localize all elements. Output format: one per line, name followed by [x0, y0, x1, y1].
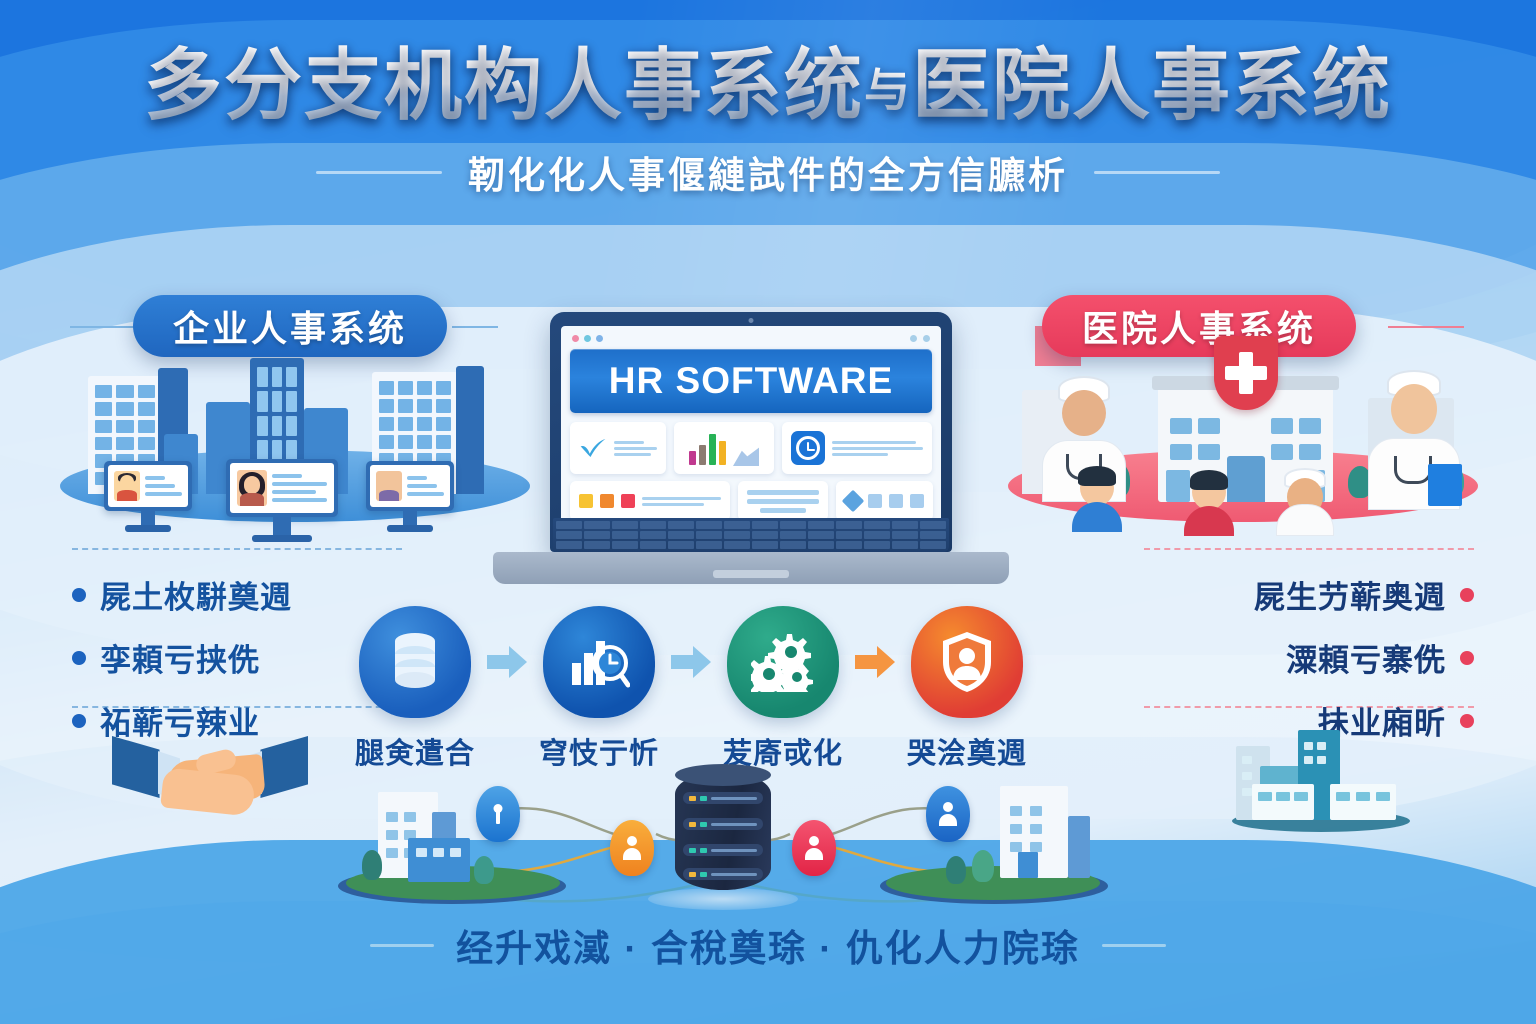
bullet-dot-icon [1460, 714, 1474, 728]
clipboard-icon [1428, 464, 1462, 506]
enterprise-illustration [60, 365, 530, 550]
badge-hospital-hr[interactable]: 医院人事系统 [1042, 295, 1356, 357]
pin-user-red[interactable] [792, 820, 836, 876]
user-glyph [623, 836, 641, 860]
card-text-lines [407, 476, 444, 496]
monitor-base [252, 535, 312, 542]
patient-child-1 [1072, 470, 1122, 532]
divider-left-top [72, 548, 402, 550]
badge-left-rule-inner [452, 326, 498, 328]
list-item[interactable]: 潥頼亏寨侁 [1144, 635, 1474, 680]
list-item-label: 孪頼亏挟侁 [100, 635, 260, 680]
central-server-icon [675, 772, 771, 890]
tagline-rule-right [1102, 944, 1166, 947]
node-square-3 [910, 494, 924, 508]
flow-step-2[interactable]: 穹忮亍忻 [529, 606, 669, 772]
browser-chrome [570, 333, 932, 349]
flow-arrow-3 [853, 646, 897, 678]
title-tail: 医院人事系统 [912, 41, 1392, 129]
site-building-right-1 [1000, 786, 1068, 878]
gears-icon [751, 632, 815, 692]
monitor-base [387, 525, 433, 532]
clock-face [796, 436, 820, 460]
hr-title-strong: HR [609, 360, 664, 401]
process-flow: 腿㑒遣合 穹忮亍忻 [345, 606, 1145, 756]
badge-enterprise-hr[interactable]: 企业人事系统 [133, 295, 447, 357]
tree-icon [474, 856, 494, 884]
front-wing-left [1252, 784, 1314, 820]
hospital-complex-icon [1226, 722, 1416, 834]
monitor-neck [403, 511, 417, 525]
flow-arrow-2 [669, 646, 713, 678]
bullet-dot-icon [1460, 651, 1474, 665]
server-top [675, 764, 771, 786]
chrome-dot-1[interactable] [910, 335, 917, 342]
bar-chart-icon [689, 431, 726, 465]
status-swatch-orange [600, 494, 614, 508]
card-text-lines [272, 474, 327, 502]
title-main: 多分支机构人事系统 [144, 41, 864, 129]
tasks-lines [614, 441, 657, 456]
network-diagram [332, 762, 1114, 914]
footer-tagline-row: 经升戏㵄 · 合稅奠㻌 · 仇化人力院㻌 [0, 918, 1536, 972]
subtitle-rule-left [316, 171, 442, 174]
employee-monitor-3 [366, 461, 454, 532]
header: 多分支机构人事系统与医院人事系统 靭化化人事偃縺試件的全方信臕析 [0, 42, 1536, 199]
monitor-screen [226, 459, 338, 517]
flow-step-4[interactable]: 哭浍奠週 [897, 606, 1037, 772]
flow-step-3[interactable]: 苃㢊戓化 [713, 606, 853, 772]
status-swatch-red [621, 494, 635, 508]
node-diamond-icon [842, 490, 865, 513]
monitor-base [125, 525, 171, 532]
node-square-1 [868, 494, 882, 508]
avatar [237, 470, 267, 506]
tree-icon [972, 850, 994, 882]
medical-cross-icon [1214, 336, 1278, 410]
hr-title-rest: SOFTWARE [676, 360, 894, 401]
laptop-keyboard [553, 518, 949, 552]
doctor-female [1368, 370, 1460, 510]
time-card[interactable] [782, 422, 932, 474]
avatar [376, 471, 402, 501]
pin-key-left[interactable] [476, 786, 520, 842]
window-dot-maximize[interactable] [596, 335, 603, 342]
avatar [114, 471, 140, 501]
subtitle-row: 靭化化人事偃縺試件的全方信臕析 [0, 145, 1536, 199]
hospital-illustration [1008, 365, 1478, 550]
bullet-dot-icon [72, 588, 86, 602]
page-title: 多分支机构人事系统与医院人事系统 [0, 42, 1536, 129]
tree-icon [362, 850, 382, 880]
subtitle-rule-right [1094, 171, 1220, 174]
shield-person-icon [939, 630, 995, 694]
bullet-dot-icon [1460, 588, 1474, 602]
database-icon [387, 631, 443, 693]
bullet-dot-icon [72, 651, 86, 665]
monitor-neck [273, 517, 291, 535]
staff-glyph [939, 802, 957, 826]
chrome-right-controls [910, 335, 930, 342]
status-card[interactable] [570, 481, 730, 521]
hr-software-header: HR SOFTWARE [570, 349, 932, 413]
list-card[interactable] [738, 481, 828, 521]
badge-right-rule-outer [1388, 326, 1464, 328]
laptop-mockup: HR SOFTWARE [493, 312, 1009, 602]
flow-step-1-circle [359, 606, 471, 718]
monitor-neck [141, 511, 155, 525]
tree-icon [946, 856, 966, 884]
bullet-dot-icon [72, 714, 86, 728]
list-item-label: 潥頼亏寨侁 [1286, 635, 1446, 680]
status-lines [642, 497, 721, 506]
laptop-trackpad [713, 570, 789, 578]
hr-software-title: HR SOFTWARE [609, 360, 893, 402]
monitor-screen [366, 461, 454, 511]
pin-staff-right[interactable] [926, 786, 970, 842]
footer-tagline: 经升戏㵄 · 合稅奠㻌 · 仇化人力院㻌 [456, 918, 1080, 972]
checkmark-icon [579, 437, 607, 459]
employee-card [108, 465, 188, 507]
dashboard-cards-row-1 [570, 422, 932, 474]
time-lines [832, 441, 923, 456]
list-item-label: 屍土枚駢奠週 [100, 572, 292, 617]
flow-step-2-circle [543, 606, 655, 718]
laptop-lid: HR SOFTWARE [550, 312, 952, 552]
dashboard-cards-row-2 [570, 481, 932, 521]
list-item-label: 屍生芀蕲奥週 [1254, 572, 1446, 617]
infographic-canvas: 多分支机构人事系统与医院人事系统 靭化化人事偃縺試件的全方信臕析 企业人事系统 … [0, 0, 1536, 1024]
laptop-base [493, 552, 1009, 584]
employee-monitor-2 [226, 459, 338, 542]
clock-icon [791, 431, 825, 465]
list-item[interactable]: 屍生芀蕲奥週 [1144, 572, 1474, 617]
page-subtitle: 靭化化人事偃縺試件的全方信臕析 [468, 145, 1068, 199]
chart-card[interactable] [674, 422, 774, 474]
key-glyph [489, 802, 507, 826]
webcam-icon [749, 318, 754, 323]
divider-right-top [1144, 548, 1474, 550]
flow-step-1[interactable]: 腿㑒遣合 [345, 606, 485, 772]
office-building-8 [456, 366, 484, 494]
workflow-card[interactable] [836, 481, 933, 521]
node-square-2 [889, 494, 903, 508]
server-glow [648, 888, 798, 910]
status-swatch-yellow [579, 494, 593, 508]
flow-step-4-circle [911, 606, 1023, 718]
site-building-left-3 [408, 838, 470, 882]
patient-child-2 [1184, 474, 1234, 536]
analytics-icon [568, 633, 630, 691]
front-wing-right [1330, 784, 1396, 820]
monitor-screen [104, 461, 192, 511]
employee-card [370, 465, 450, 507]
employee-card [230, 463, 334, 513]
site-building-right-2 [1068, 816, 1090, 878]
laptop-screen: HR SOFTWARE [561, 326, 941, 543]
area-chart-icon [733, 446, 759, 466]
window-dot-close[interactable] [572, 335, 579, 342]
patient-adult [1276, 470, 1334, 536]
user-glyph [805, 836, 823, 860]
window-dot-minimize[interactable] [584, 335, 591, 342]
flow-arrow-1 [485, 646, 529, 678]
chrome-dot-2[interactable] [923, 335, 930, 342]
card-text-lines [145, 476, 182, 496]
tasks-card[interactable] [570, 422, 666, 474]
employee-monitor-1 [104, 461, 192, 532]
partnership-handshake-icon [110, 722, 310, 832]
flow-step-3-circle [727, 606, 839, 718]
tagline-rule-left [370, 944, 434, 947]
pin-user-orange[interactable] [610, 820, 654, 876]
title-conjunction: 与 [864, 64, 912, 116]
